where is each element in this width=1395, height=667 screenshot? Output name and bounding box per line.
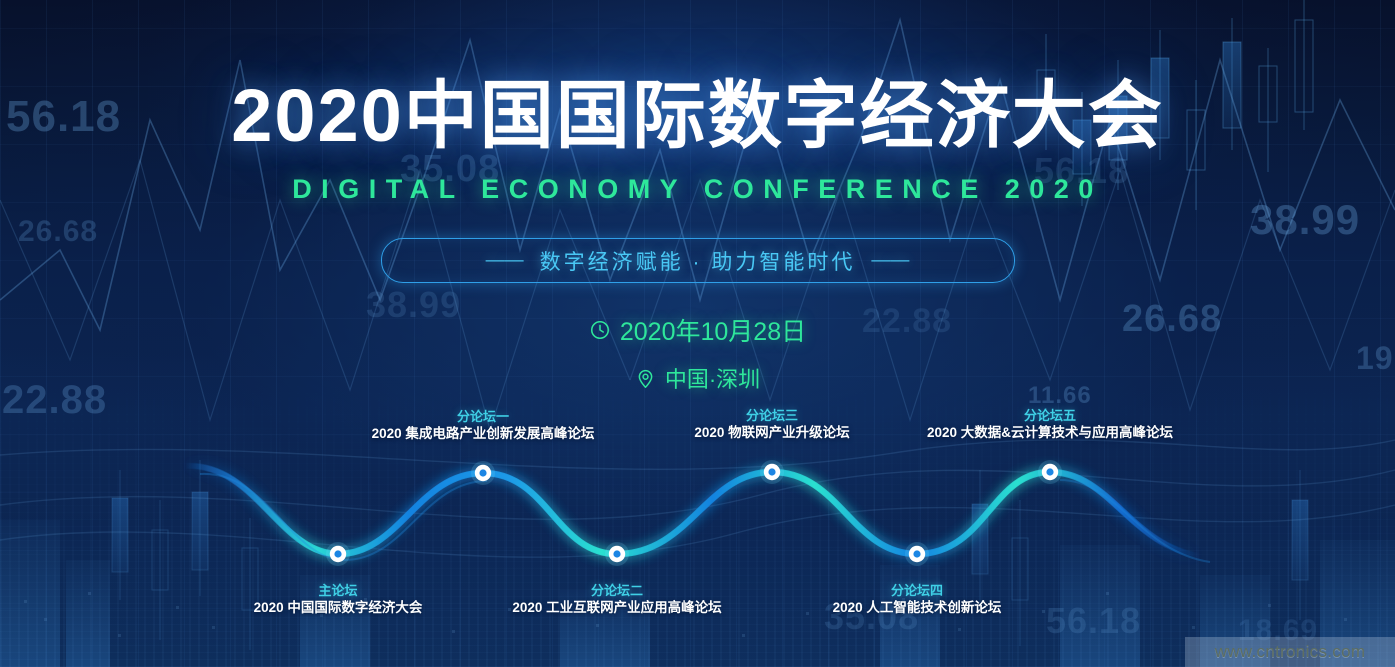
event-date-text: 2020年10月28日 bbox=[620, 312, 806, 348]
forum-label-main[interactable]: 主论坛2020 中国国际数字经济大会 bbox=[254, 582, 423, 617]
page-title: 2020中国国际数字经济大会 bbox=[0, 79, 1395, 153]
map-pin-icon bbox=[635, 368, 656, 389]
watermark-text: www.cntronics.com bbox=[1215, 642, 1366, 662]
ticker-number: 56.18 bbox=[1046, 600, 1141, 642]
wave-node-main[interactable] bbox=[326, 542, 350, 566]
forum-description: 2020 人工智能技术创新论坛 bbox=[833, 599, 1002, 617]
forum-description: 2020 物联网产业升级论坛 bbox=[694, 424, 849, 442]
slogan-container: —— 数字经济赋能 · 助力智能时代 —— bbox=[0, 238, 1395, 283]
forum-label-sub3[interactable]: 分论坛三2020 物联网产业升级论坛 bbox=[694, 407, 849, 442]
event-date: 2020年10月28日 bbox=[0, 312, 1395, 348]
wave-node-sub2[interactable] bbox=[605, 542, 629, 566]
forum-description: 2020 大数据&云计算技术与应用高峰论坛 bbox=[927, 424, 1173, 442]
forum-description: 2020 工业互联网产业应用高峰论坛 bbox=[512, 599, 721, 617]
ticker-number: 38.99 bbox=[1250, 196, 1360, 244]
forum-tag: 分论坛三 bbox=[694, 407, 849, 424]
forum-tag: 分论坛二 bbox=[512, 582, 721, 599]
wave-node-sub5[interactable] bbox=[1038, 460, 1062, 484]
wave-node-sub1[interactable] bbox=[471, 461, 495, 485]
wave-node-sub3[interactable] bbox=[760, 460, 784, 484]
slogan-left-dash: —— bbox=[486, 250, 524, 272]
event-location: 中国·深圳 bbox=[0, 362, 1395, 394]
slogan-pill: —— 数字经济赋能 · 助力智能时代 —— bbox=[381, 238, 1015, 283]
forum-description: 2020 中国国际数字经济大会 bbox=[254, 599, 423, 617]
forum-label-sub2[interactable]: 分论坛二2020 工业互联网产业应用高峰论坛 bbox=[512, 582, 721, 617]
forum-tag: 主论坛 bbox=[254, 582, 423, 599]
slogan-right-dash: —— bbox=[871, 250, 909, 272]
forum-label-sub5[interactable]: 分论坛五2020 大数据&云计算技术与应用高峰论坛 bbox=[927, 407, 1173, 442]
clock-icon bbox=[589, 319, 611, 341]
forum-description: 2020 集成电路产业创新发展高峰论坛 bbox=[372, 425, 595, 443]
forum-tag: 分论坛五 bbox=[927, 407, 1173, 424]
event-location-text: 中国·深圳 bbox=[665, 362, 760, 394]
wave-node-sub4[interactable] bbox=[905, 542, 929, 566]
forum-label-sub4[interactable]: 分论坛四2020 人工智能技术创新论坛 bbox=[833, 582, 1002, 617]
slogan-text: 数字经济赋能 · 助力智能时代 bbox=[540, 246, 856, 276]
site-watermark: www.cntronics.com bbox=[1185, 637, 1395, 667]
forum-tag: 分论坛一 bbox=[372, 408, 595, 425]
page-subtitle: DIGITAL ECONOMY CONFERENCE 2020 bbox=[0, 176, 1395, 203]
conference-banner: 56.1826.6822.8835.0838.9922.8856.1838.99… bbox=[0, 0, 1395, 667]
forum-label-sub1[interactable]: 分论坛一2020 集成电路产业创新发展高峰论坛 bbox=[372, 408, 595, 443]
forum-tag: 分论坛四 bbox=[833, 582, 1002, 599]
